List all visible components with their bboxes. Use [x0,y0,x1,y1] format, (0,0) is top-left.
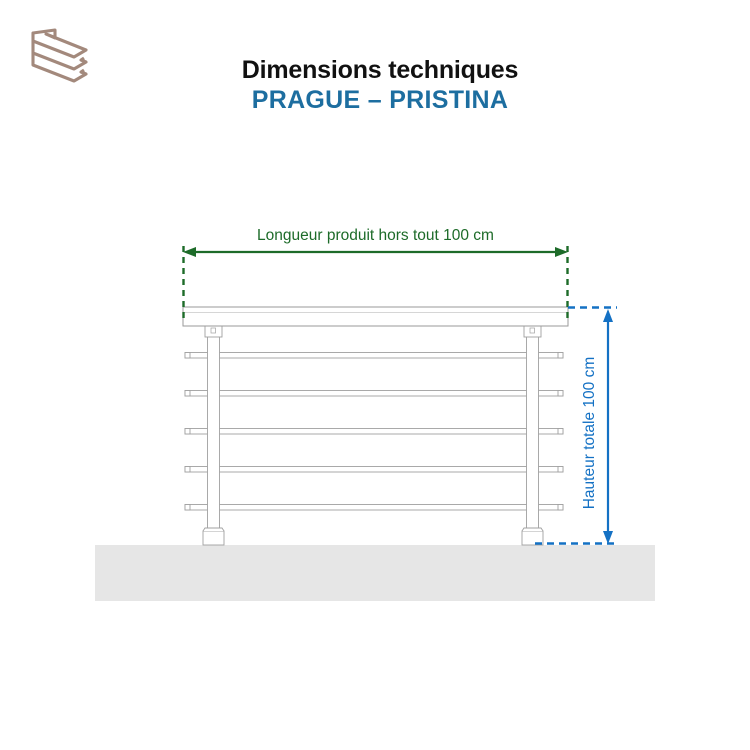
post-bracket-screw [211,328,216,333]
floor-slab [95,545,655,601]
cross-bar [185,505,563,511]
post-base-taper [203,528,224,531]
height-dimension-label-wrap: Hauteur totale 100 cm [578,325,602,540]
height-arrow-top [603,309,613,322]
length-arrow-right [555,247,568,257]
cross-bar-endcap [558,505,563,511]
top-handrail [183,307,568,326]
post-shaft [527,336,539,532]
post-base [203,531,224,545]
cross-bar-endcap [558,467,563,473]
cross-bar-endcap [558,391,563,397]
balustrade-elevation-drawing [0,0,750,750]
post-base-taper [522,528,543,531]
cross-bar-endcap [185,505,190,511]
length-arrow-left [183,247,196,257]
cross-bar-endcap [185,353,190,359]
cross-bar [185,467,563,473]
height-arrow-bottom [603,531,613,544]
cross-bar-endcap [558,353,563,359]
cross-bar [185,429,563,435]
page-root: Dimensions techniques PRAGUE – PRISTINA [0,0,750,750]
cross-bars-group [185,353,563,511]
cross-bar-endcap [185,467,190,473]
cross-bar [185,391,563,397]
cross-bar [185,353,563,359]
cross-bar-endcap [185,429,190,435]
cross-bar-endcap [558,429,563,435]
cross-bar-endcap [185,391,190,397]
height-dimension-label: Hauteur totale 100 cm [581,356,599,509]
length-dimension-label: Longueur produit hors tout 100 cm [183,227,568,245]
post-shaft [208,336,220,532]
handrail-body [183,307,568,326]
post-bracket-screw [530,328,535,333]
